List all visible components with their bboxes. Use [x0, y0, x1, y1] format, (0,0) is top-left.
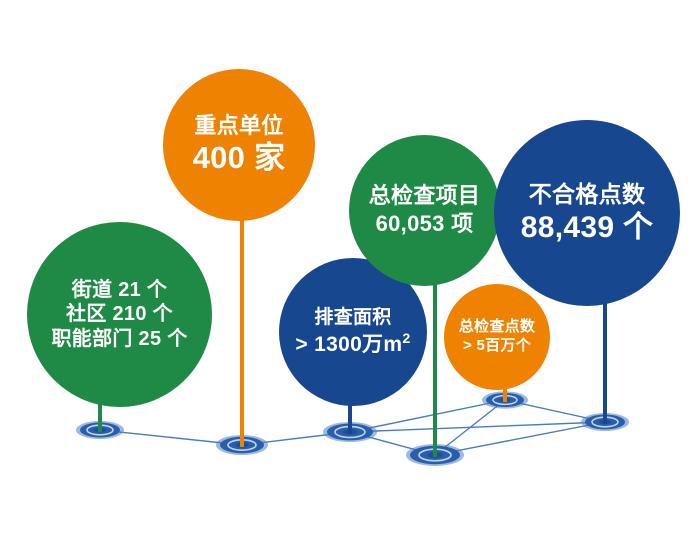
bubble-key-unit-value: 400 家 [193, 141, 286, 176]
stem-failed-points [603, 290, 607, 424]
bubble-total-items[interactable]: 总检查项目 60,053 项 [349, 135, 500, 286]
bubble-inspection-area-label: 排查面积 [314, 307, 391, 328]
bubble-total-items-label: 总检查项目 [369, 184, 481, 209]
connection-line [350, 422, 605, 432]
connection-lines [100, 400, 605, 455]
value-main: 1300万m [314, 333, 402, 356]
bubble-key-unit[interactable]: 重点单位 400 家 [163, 69, 315, 221]
bubble-total-points-value: > 5百万个 [463, 338, 531, 355]
bubble-inspection-area-value: > 1300万m2 [295, 331, 410, 357]
bubble-total-items-value: 60,053 项 [376, 212, 474, 237]
bubble-failed-points-value: 88,439 个 [521, 211, 654, 245]
connection-line [350, 400, 505, 432]
value-superscript: 2 [402, 331, 410, 347]
stem-key-unit [240, 205, 244, 447]
connection-line [435, 400, 505, 455]
connection-line [100, 430, 242, 445]
bubble-street-line-2: 社区 210 个 [66, 303, 173, 325]
connection-line [350, 432, 435, 455]
infographic-canvas: 街道 21 个 社区 210 个 职能部门 25 个 重点单位 400 家 排查… [0, 0, 700, 553]
bubble-total-points-label: 总检查点数 [459, 319, 536, 336]
bubble-key-unit-label: 重点单位 [194, 114, 283, 139]
value-prefix: > [295, 333, 314, 356]
bubble-street-line-1: 街道 21 个 [72, 279, 167, 301]
bubble-street[interactable]: 街道 21 个 社区 210 个 职能部门 25 个 [27, 222, 212, 407]
connection-line [505, 400, 605, 422]
stem-total-items [433, 272, 437, 457]
bubble-failed-points[interactable]: 不合格点数 88,439 个 [494, 120, 680, 306]
bubble-total-points[interactable]: 总检查点数 > 5百万个 [444, 284, 550, 390]
bubble-street-line-3: 职能部门 25 个 [51, 328, 187, 350]
connection-line [242, 432, 350, 445]
bubble-failed-points-label: 不合格点数 [529, 182, 646, 208]
connection-line [435, 422, 605, 455]
